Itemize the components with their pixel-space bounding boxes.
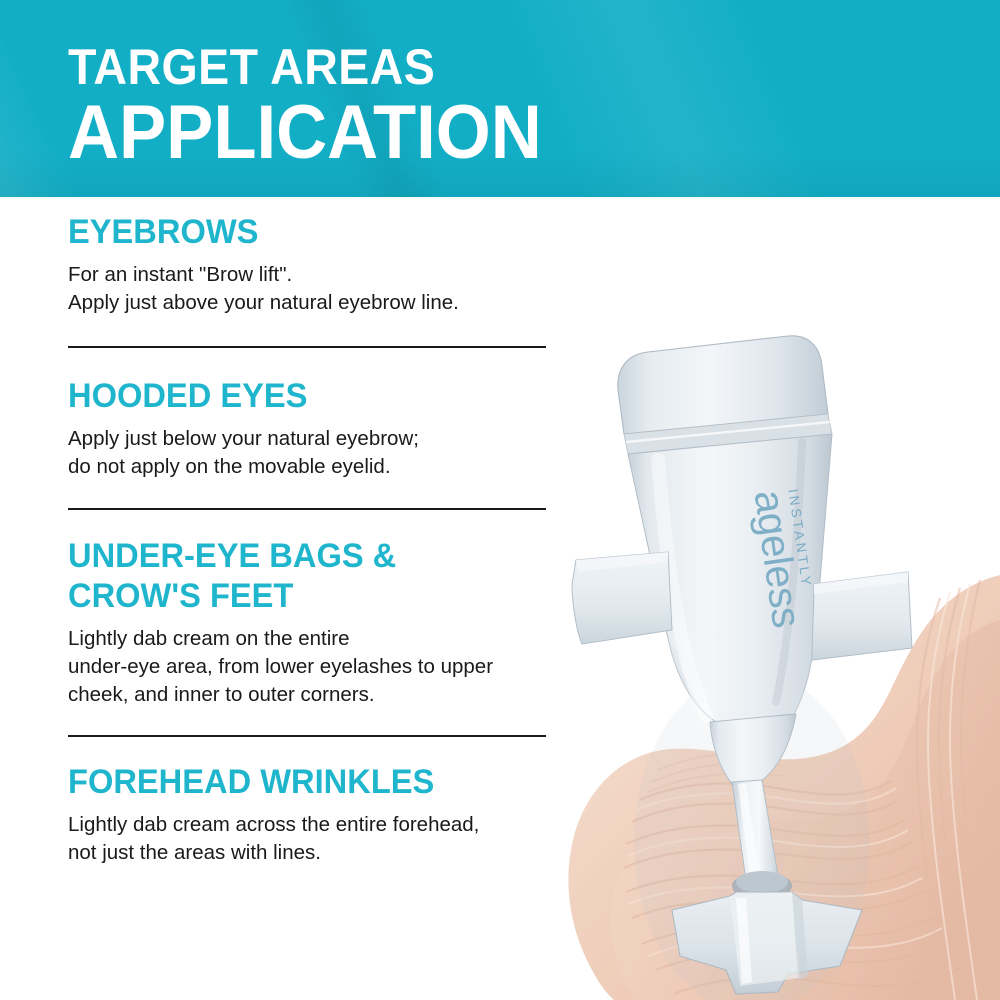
target-areas-list: EYEBROWS For an instant "Brow lift". App…	[68, 212, 568, 867]
product-illustration	[540, 330, 1000, 1000]
section-hooded-eyes-body: Apply just below your natural eyebrow; d…	[68, 425, 568, 481]
page-title: TARGET AREAS APPLICATION	[68, 42, 577, 172]
title-line-application: APPLICATION	[68, 94, 542, 172]
divider-1	[68, 346, 546, 348]
poster-root: TARGET AREAS APPLICATION	[0, 0, 1000, 1000]
title-line-target-areas: TARGET AREAS	[68, 42, 542, 92]
section-forehead-wrinkles-body: Lightly dab cream across the entire fore…	[68, 811, 568, 867]
section-hooded-eyes-heading: HOODED EYES	[68, 376, 548, 416]
section-hooded-eyes: HOODED EYES Apply just below your natura…	[68, 376, 568, 481]
section-eyebrows: EYEBROWS For an instant "Brow lift". App…	[68, 212, 568, 317]
section-forehead-wrinkles: FOREHEAD WRINKLES Lightly dab cream acro…	[68, 762, 568, 867]
section-forehead-wrinkles-heading: FOREHEAD WRINKLES	[68, 762, 548, 802]
section-under-eye-bags-heading: UNDER-EYE BAGS & CROW'S FEET	[68, 536, 548, 616]
section-under-eye-bags-body: Lightly dab cream on the entire under-ey…	[68, 625, 568, 709]
divider-2	[68, 508, 546, 510]
divider-3	[68, 735, 546, 737]
section-eyebrows-heading: EYEBROWS	[68, 212, 548, 252]
section-under-eye-bags: UNDER-EYE BAGS & CROW'S FEET Lightly dab…	[68, 536, 568, 709]
section-eyebrows-body: For an instant "Brow lift". Apply just a…	[68, 261, 568, 317]
